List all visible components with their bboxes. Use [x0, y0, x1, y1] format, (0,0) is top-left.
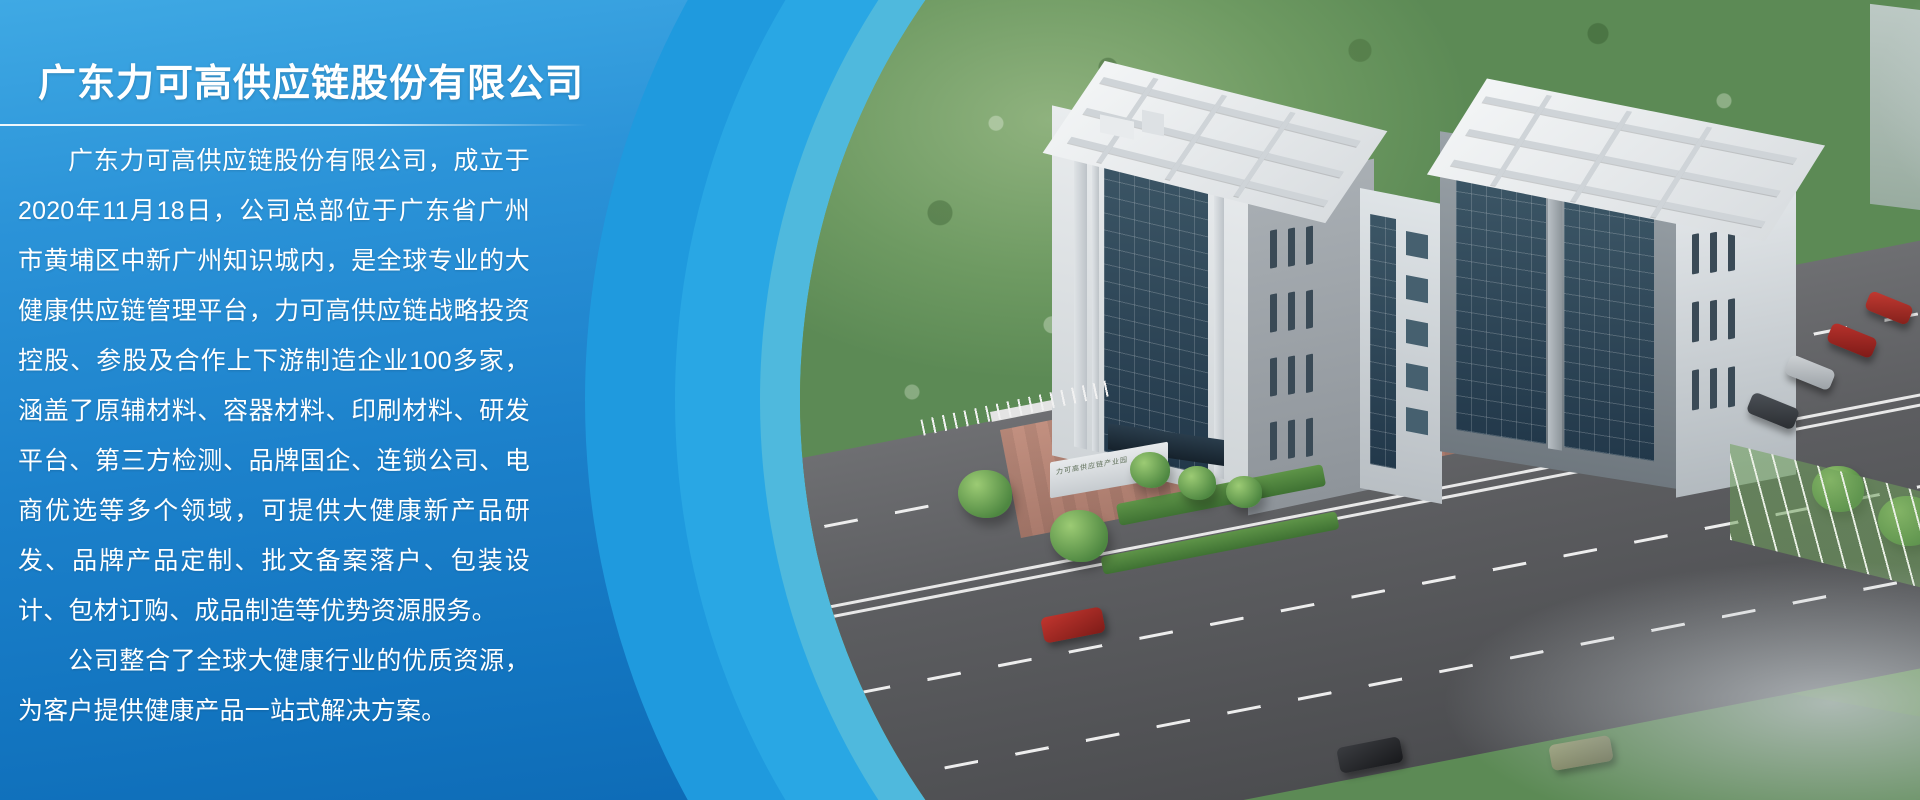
stair-tower-glazing [1370, 214, 1396, 469]
window [1406, 363, 1428, 391]
company-description: 广东力可高供应链股份有限公司，成立于2020年11月18日，公司总部位于广东省广… [18, 136, 530, 736]
building-a-pillar-3 [1214, 173, 1224, 479]
banner-stage: 力可高供应链产业园 [0, 0, 1920, 800]
tree [1178, 466, 1216, 500]
background-haze [1880, 0, 1920, 250]
window-slit [1692, 301, 1699, 342]
building-stair-tower [1360, 188, 1442, 504]
industrial-park-photo: 力可高供应链产业园 [800, 0, 1920, 800]
tree [1130, 452, 1170, 488]
window-slit [1728, 230, 1735, 271]
window-slit [1288, 291, 1295, 330]
photo-content: 力可高供应链产业园 [800, 0, 1920, 800]
window-slit [1710, 368, 1717, 409]
page-title: 广东力可高供应链股份有限公司 [38, 52, 584, 107]
roof-beam [1466, 129, 1781, 197]
window-slit [1288, 355, 1295, 394]
building-b-pillar [1548, 186, 1562, 450]
window-slit [1692, 369, 1699, 410]
window-slit [1270, 293, 1277, 332]
paragraph-2: 公司整合了全球大健康行业的优质资源，为客户提供健康产品一站式解决方案。 [18, 636, 530, 736]
window [1406, 407, 1428, 435]
building-b-curtain-wall-2 [1564, 195, 1654, 461]
window-slit [1710, 232, 1717, 273]
window-slit [1306, 226, 1313, 265]
building-a-pillar-2 [1092, 143, 1099, 453]
window [1406, 275, 1428, 303]
window [1406, 231, 1428, 259]
window-slit [1270, 357, 1277, 396]
title-divider [0, 124, 588, 126]
window-slit [1692, 233, 1699, 274]
window-slit [1288, 227, 1295, 266]
tree [1050, 510, 1108, 562]
tree [958, 470, 1012, 518]
window-slit [1270, 229, 1277, 268]
window-slit [1710, 300, 1717, 341]
building-b-curtain-wall-1 [1456, 174, 1546, 444]
window [1406, 319, 1428, 347]
tree [1226, 476, 1262, 508]
paragraph-1: 广东力可高供应链股份有限公司，成立于2020年11月18日，公司总部位于广东省广… [18, 136, 530, 636]
window-slit [1306, 354, 1313, 393]
window-slit [1306, 290, 1313, 329]
window-slit [1728, 366, 1735, 407]
window-slit [1306, 418, 1313, 457]
window-slit [1728, 298, 1735, 339]
text-panel: 广东力可高供应链股份有限公司 广东力可高供应链股份有限公司，成立于2020年11… [0, 0, 660, 800]
rooftop-equipment [1142, 110, 1164, 137]
window-slit [1270, 421, 1277, 460]
road-haze [1440, 560, 1920, 800]
window-slit [1288, 419, 1295, 458]
